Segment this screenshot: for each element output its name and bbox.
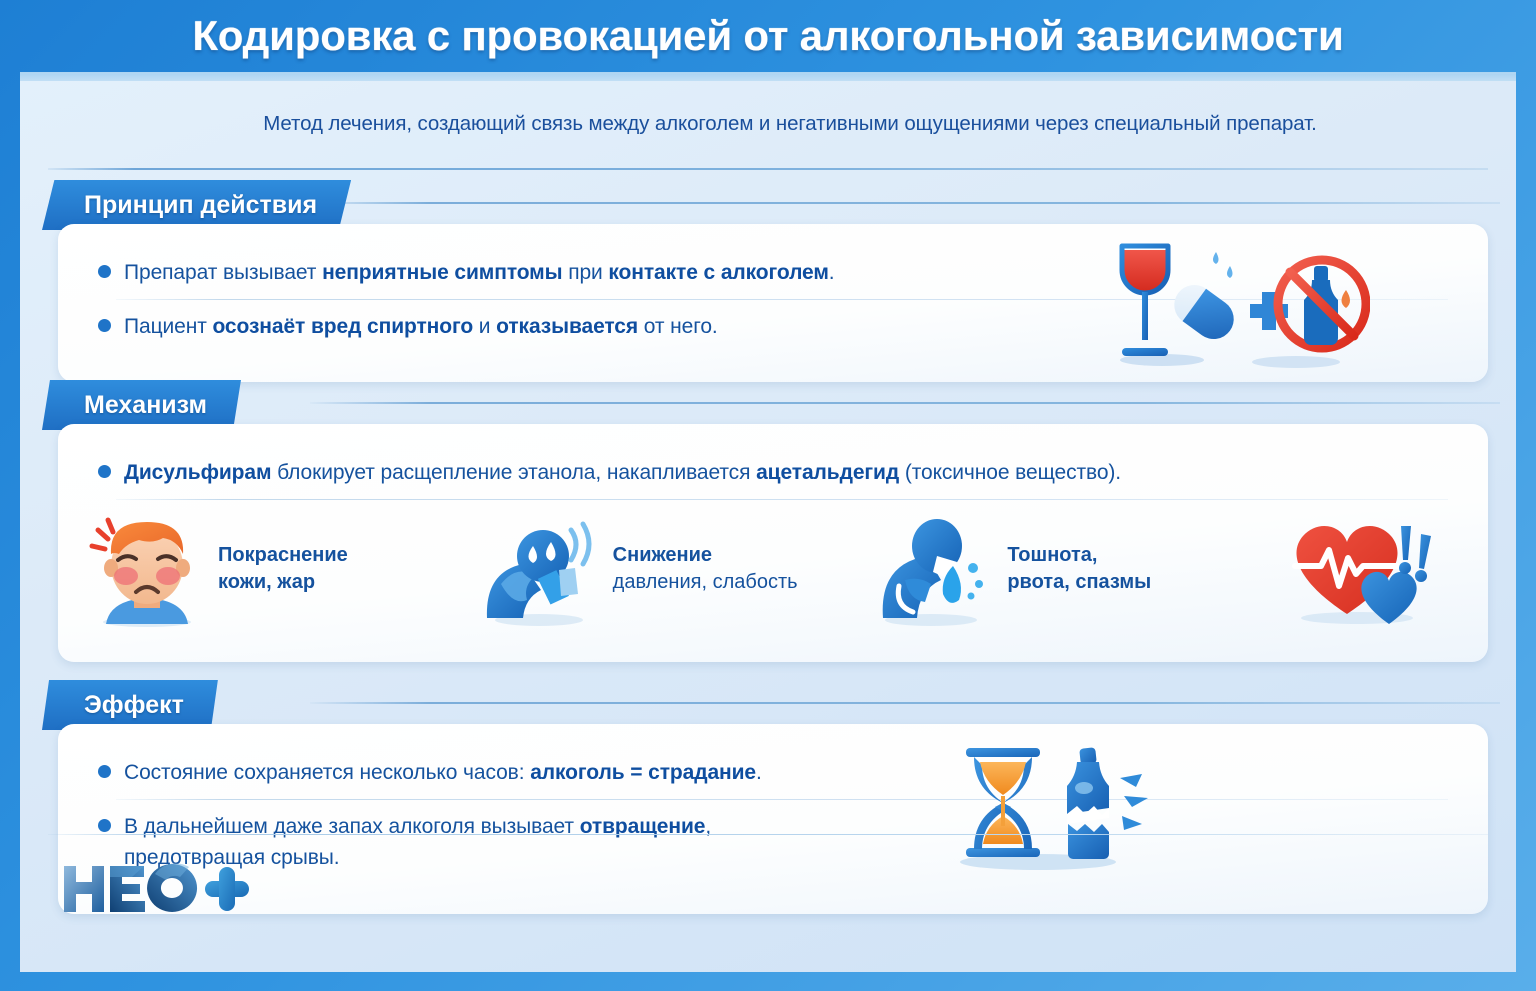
row-divider — [116, 499, 1448, 500]
section-tab-label: Принцип действия — [84, 191, 317, 220]
symptom-item-flushed: Покраснение кожи, жар — [86, 510, 477, 628]
flushed-face-icon — [86, 510, 208, 628]
intro-divider — [48, 168, 1488, 170]
list-item-continuation: предотвращая срывы. — [58, 842, 1488, 881]
symptom-strip: Покраснение кожи, жар — [58, 506, 1488, 650]
bullet-dot-icon — [98, 465, 111, 478]
card-mehanizm: Дисульфирам блокирует расщепление этанол… — [58, 424, 1488, 662]
bullet-dot-icon — [98, 265, 111, 278]
infographic-root: Кодировка с провокацией от алкогольной з… — [0, 0, 1536, 991]
symptom-line1: Тошнота, — [1007, 542, 1151, 569]
symptom-label: Тошнота, рвота, спазмы — [1007, 542, 1151, 596]
symptom-line1: Покраснение — [218, 542, 348, 569]
vomiting-person-icon — [875, 510, 997, 628]
symptom-label: Покраснение кожи, жар — [218, 542, 348, 596]
bullet-text: Пациент осознаёт вред спиртного и отказы… — [124, 311, 718, 342]
symptom-line2: давления, слабость — [613, 569, 798, 596]
hourglass-broken-bottle-icon — [938, 734, 1168, 874]
section-rule — [310, 402, 1500, 404]
bullet-text: Препарат вызывает неприятные симптомы пр… — [124, 257, 835, 288]
list-item: Дисульфирам блокирует расщепление этанол… — [58, 446, 1488, 499]
neo-plus-logo-icon — [60, 860, 260, 920]
footer-divider — [48, 834, 1488, 835]
section-tab-label: Эффект — [84, 691, 184, 720]
section-tab-label: Механизм — [84, 391, 207, 420]
wine-glass-pill-no-alcohol-icon — [1100, 232, 1370, 372]
bullet-text: Состояние сохраняется несколько часов: а… — [124, 757, 762, 788]
intro-text: Метод лечения, создающий связь между алк… — [130, 112, 1450, 136]
bullet-dot-icon — [98, 819, 111, 832]
section-tab-princip[interactable]: Принцип действия — [42, 180, 351, 230]
bullet-dot-icon — [98, 319, 111, 332]
card-princip: Препарат вызывает неприятные симптомы пр… — [58, 224, 1488, 382]
main-panel: Метод лечения, создающий связь между алк… — [20, 72, 1516, 972]
heartbeat-alert-icon — [1285, 510, 1445, 628]
section-rule — [310, 202, 1500, 204]
section-rule — [310, 702, 1500, 704]
symptom-item-heart — [1270, 510, 1460, 628]
logo — [60, 860, 260, 920]
section-tab-mehanizm[interactable]: Механизм — [42, 380, 241, 430]
bullet-text: Дисульфирам блокирует расщепление этанол… — [124, 457, 1121, 488]
symptom-line1: Снижение — [613, 542, 798, 569]
dizzy-person-icon — [481, 510, 603, 628]
bullet-dot-icon — [98, 765, 111, 778]
bullet-list-mehanizm: Дисульфирам блокирует расщепление этанол… — [58, 424, 1488, 506]
symptom-item-dizzy: Снижение давления, слабость — [481, 510, 872, 628]
bullet-list-effekt: Состояние сохраняется несколько часов: а… — [58, 724, 1488, 901]
symptom-line2: рвота, спазмы — [1007, 569, 1151, 596]
card-effekt: Состояние сохраняется несколько часов: а… — [58, 724, 1488, 914]
bullet-text: В дальнейшем даже запах алкоголя вызывае… — [124, 811, 711, 842]
list-item: Состояние сохраняется несколько часов: а… — [58, 746, 1488, 799]
list-item: В дальнейшем даже запах алкоголя вызывае… — [58, 800, 1488, 842]
symptom-line2: кожи, жар — [218, 569, 348, 596]
page-title: Кодировка с провокацией от алкогольной з… — [192, 12, 1343, 60]
symptom-item-vomiting: Тошнота, рвота, спазмы — [875, 510, 1266, 628]
title-bar: Кодировка с провокацией от алкогольной з… — [0, 0, 1536, 72]
section-tab-effekt[interactable]: Эффект — [42, 680, 218, 730]
symptom-label: Снижение давления, слабость — [613, 542, 798, 596]
